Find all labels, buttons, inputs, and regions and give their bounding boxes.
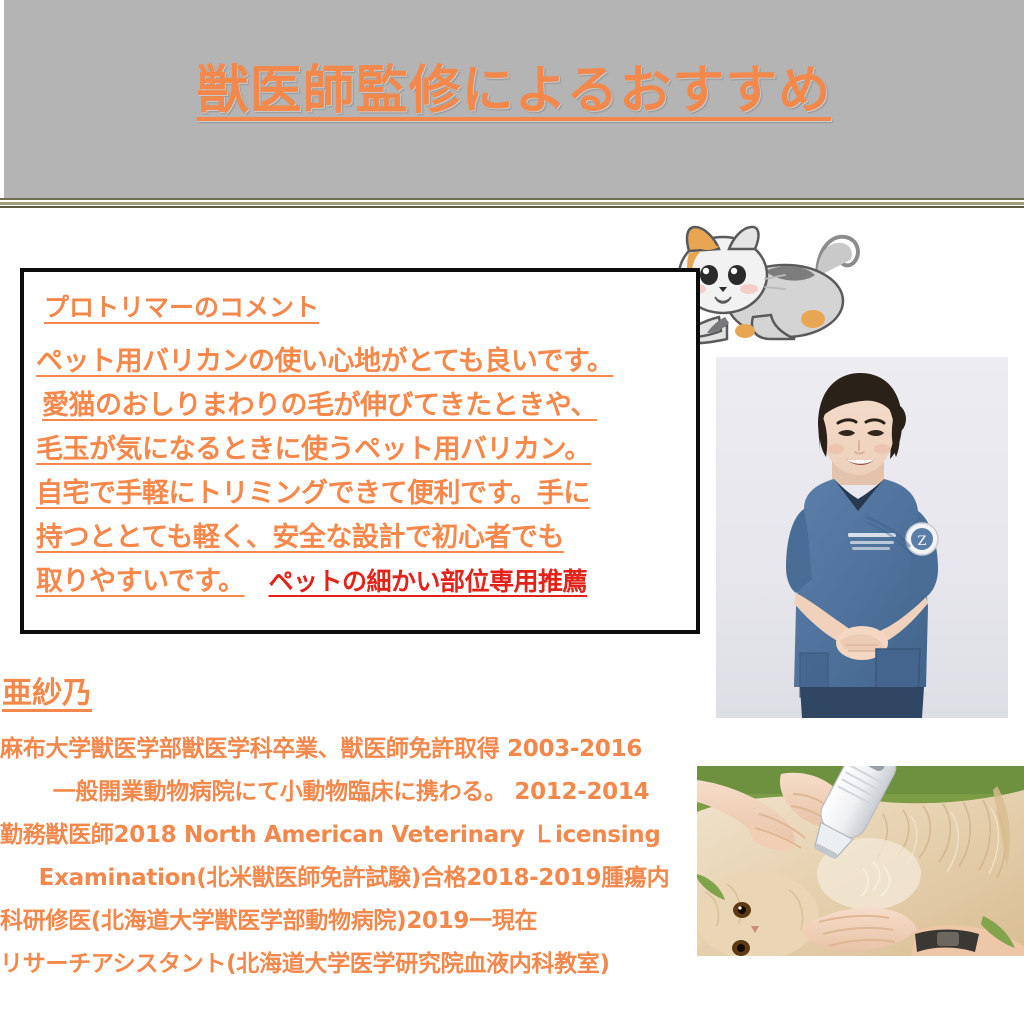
vet-credentials-list: 麻布大学獣医学部獣医学科卒業、獣医師免許取得 2003-2016 一般開業動物病… [0,728,710,986]
comment-line: 自宅で手軽にトリミングできて便利です。手に [36,472,686,516]
credential-line: 一般開業動物病院にて小動物臨床に携わる。 2012-2014 [0,771,710,814]
header-divider-line-5 [0,206,1024,208]
comment-line: ペット用バリカンの使い心地がとても良いです。 [36,340,686,384]
svg-text:Z: Z [917,534,926,549]
veterinarian-portrait-photo: Z [716,357,1008,718]
credential-line: 麻布大学獣医学部獣医学科卒業、獣医師免許取得 2003-2016 [0,728,710,771]
credential-line: 科研修医(北海道大学獣医学部動物病院)2019一現在 [0,900,710,943]
comment-highlight-text: ペットの細かい部位専用推薦 [269,562,588,598]
comment-line: 取りやすいです。 [36,560,245,604]
page-title: 獣医師監修によるおすすめ [4,48,1024,123]
comment-line: 毛玉が気になるときに使うペット用バリカン。 [36,428,686,472]
groomer-comment-box: プロトリマーのコメント ペット用バリカンの使い心地がとても良いです。 愛猫のおし… [20,268,700,634]
cat-grooming-clipper-photo [697,766,1024,956]
comment-heading: プロトリマーのコメント [44,288,686,324]
credential-line: 勤務獣医師2018 North American Veterinary Ｌice… [0,814,710,857]
comment-last-row: 取りやすいです。 ペットの細かい部位専用推薦 [36,560,686,604]
vet-name: 亜紗乃 [2,668,92,712]
credential-line: Examination(北米獣医師免許試験)合格2018-2019腫瘍内 [0,857,710,900]
comment-line: 愛猫のおしりまわりの毛が伸びてきたときや、 [36,384,686,428]
slide-page: 獣医師監修によるおすすめ [0,0,1024,1024]
comment-line: 持つととても軽く、安全な設計で初心者でも [36,516,686,560]
credential-line: リサーチアシスタント(北海道大学医学研究院血液内科教室) [0,943,710,986]
header-band: 獣医師監修によるおすすめ [4,0,1024,198]
